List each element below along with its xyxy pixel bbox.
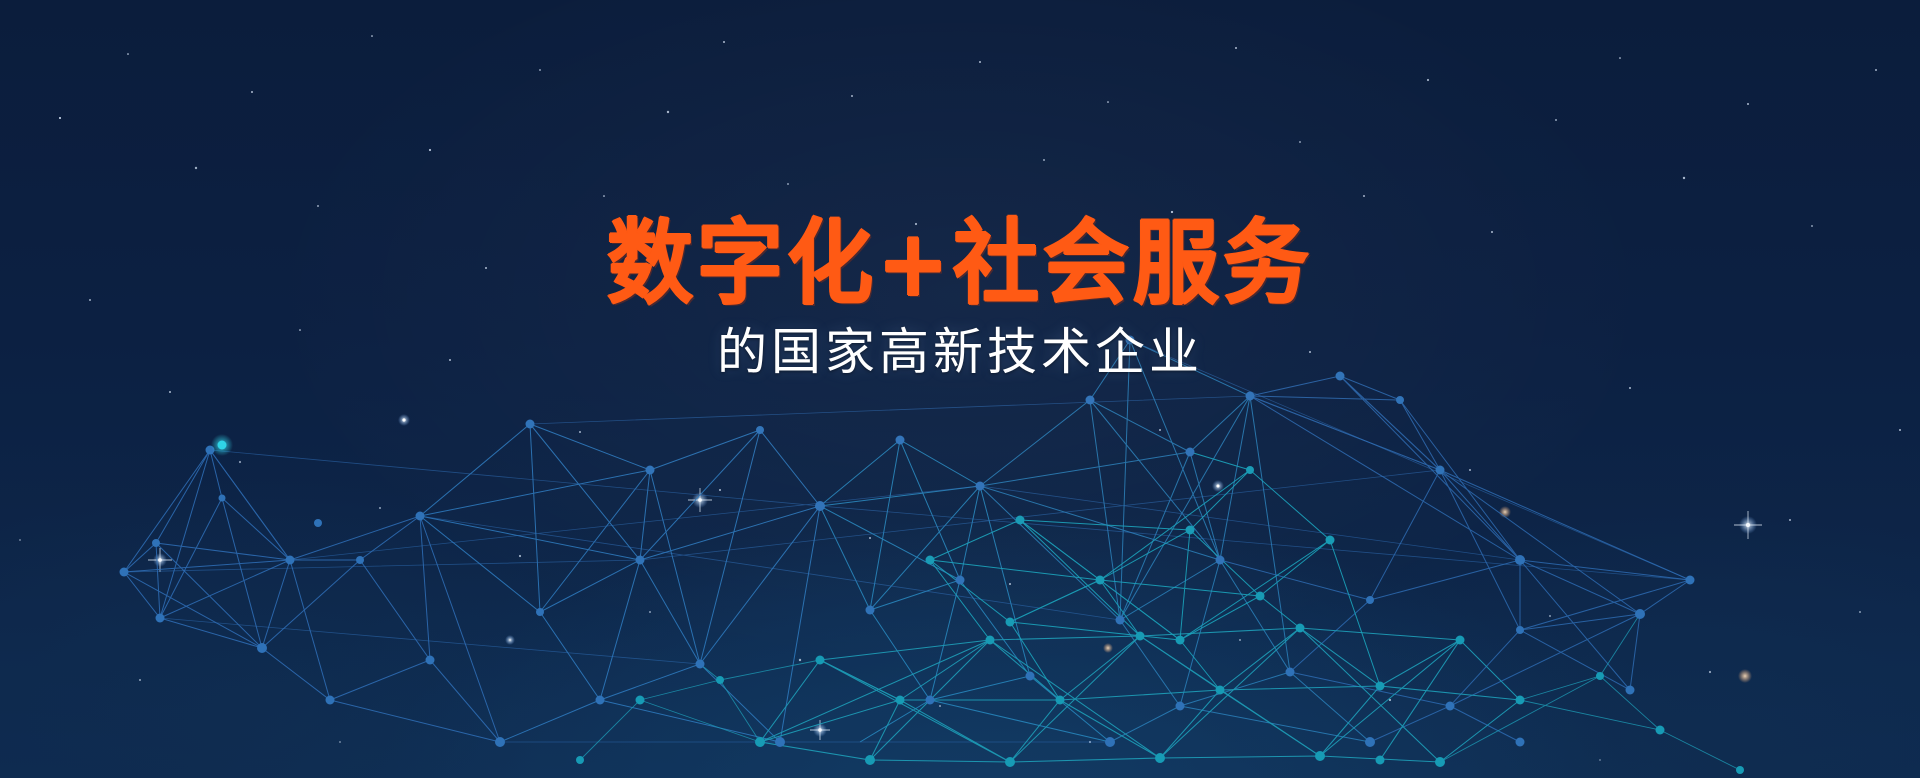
background-gradient [0,0,1920,778]
hero-text-block: 数字化+社会服务 的国家高新技术企业 [0,218,1920,379]
page-title: 数字化+社会服务 [0,218,1920,310]
hero-banner: 数字化+社会服务 的国家高新技术企业 [0,0,1920,778]
